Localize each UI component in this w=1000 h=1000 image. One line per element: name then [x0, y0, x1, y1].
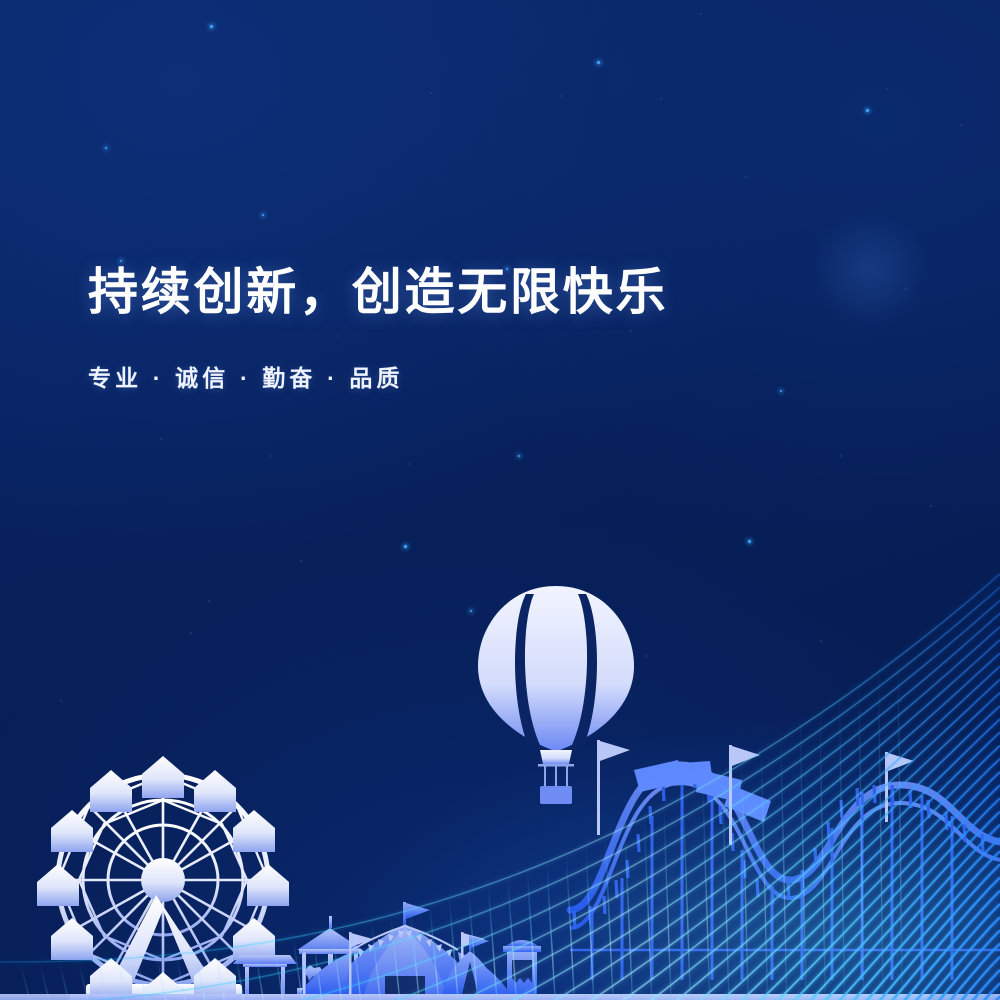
headline-block: 持续创新，创造无限快乐 专业 · 诚信 · 勤奋 · 品质	[88, 263, 668, 393]
wave-line	[0, 996, 1000, 1000]
wave-rib	[313, 934, 328, 1000]
page-title: 持续创新，创造无限快乐	[88, 263, 668, 321]
wave-line	[0, 944, 1000, 1000]
wave-line	[0, 772, 1000, 1000]
wave-line	[0, 600, 1000, 1000]
wave-rib	[859, 687, 865, 1000]
wave-line	[0, 587, 1000, 1000]
star	[430, 92, 432, 94]
nebula-glow	[810, 210, 930, 330]
wave-line	[0, 864, 1000, 1000]
wave-line	[0, 864, 1000, 1000]
star	[160, 438, 162, 440]
wave-line	[0, 732, 1000, 1000]
star	[660, 98, 662, 100]
wave-line	[0, 891, 1000, 1000]
star	[105, 147, 107, 149]
wave-rib	[254, 944, 270, 1000]
star	[780, 390, 782, 392]
wave-line	[0, 944, 1000, 1000]
wave-rib	[59, 961, 78, 1000]
wave-line	[0, 640, 1000, 1000]
poster-canvas: 持续创新，创造无限快乐 专业 · 诚信 · 勤奋 · 品质	[0, 0, 1000, 1000]
wave-line	[0, 904, 1000, 1000]
wave-rib	[196, 952, 213, 1000]
star	[700, 13, 702, 15]
star	[930, 505, 932, 507]
star	[120, 260, 122, 262]
wave-line	[0, 600, 1000, 1000]
star	[597, 61, 600, 64]
wave-line	[0, 798, 1000, 1000]
wave-rib	[352, 925, 366, 1000]
wave-line	[0, 838, 1000, 1000]
wave-rib	[605, 837, 615, 1000]
wave-rib	[703, 787, 712, 1000]
wave-line	[0, 627, 1000, 1000]
star	[840, 455, 842, 457]
star	[404, 545, 407, 548]
wave-line	[0, 627, 1000, 1000]
wave-line	[0, 574, 1000, 962]
star	[560, 95, 562, 97]
wave-line	[0, 838, 1000, 1000]
wave-rib	[40, 962, 59, 1000]
wave-line	[0, 957, 1000, 1000]
wave-line	[0, 772, 1000, 1000]
wave-line	[0, 996, 1000, 1000]
wave-rib	[79, 961, 98, 1000]
star	[866, 109, 869, 112]
star	[745, 176, 747, 178]
wave-line	[0, 798, 1000, 1000]
wave-rib	[469, 892, 482, 1000]
wave-line	[0, 732, 1000, 1000]
wave-rib	[391, 915, 405, 1000]
wave-rib	[508, 878, 520, 1000]
wave-line	[0, 680, 1000, 1000]
wave-rib	[215, 950, 232, 1000]
glowing-mesh-wave	[0, 570, 1000, 1000]
star	[270, 455, 272, 457]
wave-line	[0, 680, 1000, 1000]
wave-line	[0, 983, 1000, 1000]
wave-line	[0, 653, 1000, 1000]
wave-rib	[274, 941, 290, 1000]
star	[408, 463, 410, 465]
wave-line	[0, 653, 1000, 1000]
wave-rib	[371, 920, 385, 1000]
star	[960, 124, 962, 126]
star	[886, 88, 888, 90]
wave-line	[0, 957, 1000, 1000]
wave-line	[0, 587, 1000, 1000]
star	[518, 455, 520, 457]
star	[748, 540, 751, 543]
page-subtitle: 专业 · 诚信 · 勤奋 · 品质	[88, 359, 668, 393]
wave-rib	[644, 818, 654, 1000]
wave-line	[0, 746, 1000, 1000]
wave-rib	[20, 962, 40, 1000]
star	[210, 25, 213, 28]
wave-rib	[176, 954, 193, 1000]
wave-line	[0, 983, 1000, 1000]
wave-rib	[98, 960, 116, 1000]
wave-line	[0, 904, 1000, 1000]
wave-rib	[137, 958, 155, 1000]
wave-line	[0, 574, 1000, 962]
star	[300, 560, 302, 562]
wave-line	[0, 746, 1000, 1000]
wave-rib	[410, 910, 423, 1000]
wave-line	[0, 891, 1000, 1000]
wave-rib	[235, 947, 251, 1000]
wave-rib	[118, 959, 136, 1000]
wave-line	[0, 640, 1000, 1000]
star	[262, 214, 264, 216]
wave-rib	[430, 904, 443, 1000]
